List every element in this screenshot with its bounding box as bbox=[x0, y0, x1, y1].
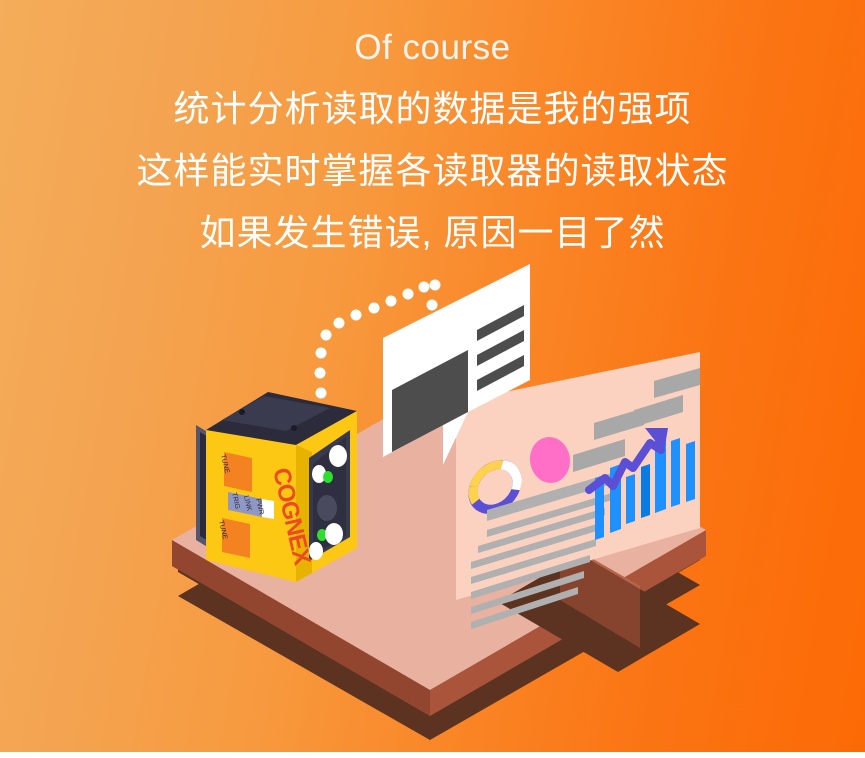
signal-dot bbox=[315, 368, 326, 379]
signal-dot bbox=[351, 310, 362, 321]
signal-dot bbox=[386, 296, 397, 307]
signal-dot bbox=[321, 330, 332, 341]
status-led-top bbox=[323, 471, 333, 483]
scanner-top-screw-1 bbox=[239, 409, 245, 415]
signal-dot bbox=[419, 282, 430, 293]
bar-6 bbox=[671, 438, 680, 507]
signal-dot bbox=[316, 348, 327, 359]
illuminator-top-right bbox=[329, 445, 347, 467]
cognex-barcode-reader: TUNE TRIG LINK PWR TUNE COGNEX bbox=[196, 392, 357, 582]
isometric-scene: TUNE TRIG LINK PWR TUNE COGNEX bbox=[0, 0, 865, 758]
signal-dot bbox=[316, 388, 327, 399]
scanner-lens bbox=[317, 495, 337, 521]
bar-3 bbox=[626, 474, 635, 524]
illuminator-bottom-right bbox=[325, 523, 343, 545]
signal-dot bbox=[403, 289, 414, 300]
signal-dot bbox=[430, 280, 441, 291]
scanner-top-screw-2 bbox=[291, 425, 297, 431]
signal-dot bbox=[428, 340, 439, 351]
bar-7 bbox=[686, 441, 695, 502]
bar-4 bbox=[641, 464, 650, 518]
signal-dot bbox=[369, 303, 380, 314]
signal-dot bbox=[427, 300, 438, 311]
signal-dot bbox=[334, 318, 345, 329]
illustration-banner: Of course 统计分析读取的数据是我的强项 这样能实时掌握各读取器的读取状… bbox=[0, 0, 865, 758]
signal-dot bbox=[427, 320, 438, 331]
donut-segment-yellow-2 bbox=[473, 486, 476, 502]
